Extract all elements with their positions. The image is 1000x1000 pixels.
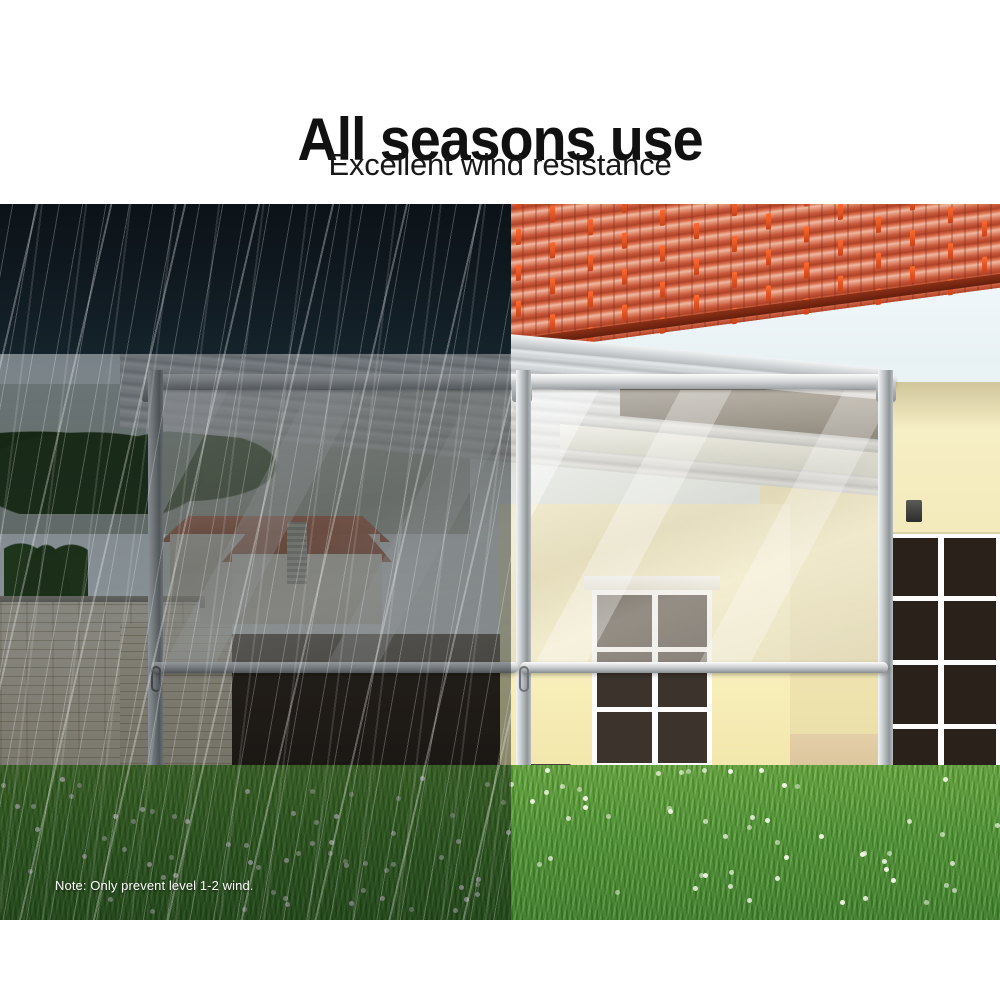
clover-flower: [615, 890, 620, 895]
door-mullion: [886, 660, 996, 665]
clover-flower: [784, 855, 789, 860]
roof-snow-guard: [588, 219, 593, 236]
clover-flower: [775, 876, 780, 881]
roof-snow-guard: [838, 276, 843, 293]
roof-snow-guard: [838, 204, 843, 220]
clover-flower: [884, 867, 889, 872]
product-photo: Note: Only prevent level 1-2 wind.: [0, 204, 1000, 920]
roof-snow-guard: [622, 232, 627, 249]
roof-snow-guard: [910, 230, 915, 247]
clover-flower: [765, 818, 770, 823]
roof-snow-guard: [766, 249, 771, 266]
roof-snow-guard: [516, 204, 521, 209]
clover-flower: [544, 790, 549, 795]
clover-flower: [940, 832, 945, 837]
clover-flower: [887, 851, 892, 856]
disclaimer-note: Note: Only prevent level 1-2 wind.: [55, 878, 254, 893]
french-door: [882, 534, 1000, 792]
clover-flower: [863, 896, 868, 901]
roof-snow-guard: [732, 272, 737, 289]
roof-snow-guard: [948, 243, 953, 260]
blind-fabric-right: [525, 390, 891, 672]
roof-snow-guard: [694, 259, 699, 276]
roof-snow-guard: [660, 245, 665, 262]
roof-snow-guard: [948, 207, 953, 224]
roof-snow-guard: [516, 229, 521, 246]
clover-flower: [530, 799, 535, 804]
roof-snow-guard: [660, 281, 665, 298]
roof-snow-guard: [516, 265, 521, 282]
clover-flower: [545, 768, 550, 773]
roof-snow-guard: [804, 226, 809, 243]
roof-snow-guard: [982, 256, 987, 273]
roof-snow-guard: [910, 266, 915, 283]
roof-snow-guard: [766, 213, 771, 230]
clover-flower: [548, 856, 553, 861]
clover-flower: [583, 805, 588, 810]
roof-snow-guard: [550, 242, 555, 259]
clover-flower: [728, 884, 733, 889]
clover-flower: [747, 898, 752, 903]
roof-snow-guard: [588, 255, 593, 272]
roof-snow-guard: [910, 204, 915, 211]
roof-snow-guard: [550, 314, 555, 331]
door-mullion: [597, 707, 707, 712]
clover-flower: [728, 769, 733, 774]
roof-snow-guard: [732, 204, 737, 216]
clover-flower: [943, 777, 948, 782]
rain-streaks-bright: [0, 204, 511, 920]
clover-flower: [702, 768, 707, 773]
roof-snow-guard: [550, 206, 555, 223]
clover-flower: [782, 783, 787, 788]
clover-flower: [537, 862, 542, 867]
product-feature-banner: All seasons use Excellent wind resistanc…: [0, 0, 1000, 1000]
roof-snow-guard: [876, 216, 881, 233]
clover-flower: [668, 809, 673, 814]
blind-tension-strap-right[interactable]: [519, 666, 529, 692]
clover-flower: [995, 823, 1000, 828]
roof-snow-guard: [588, 291, 593, 308]
blind-fabric-sheen: [527, 390, 889, 672]
roof-snow-guard: [694, 295, 699, 312]
clover-flower: [750, 815, 755, 820]
clover-flower: [775, 840, 780, 845]
clover-flower: [944, 883, 949, 888]
roof-snow-guard: [622, 268, 627, 285]
clover-flower: [560, 784, 565, 789]
clover-flower: [686, 769, 691, 774]
storm-overlay: [0, 204, 511, 920]
clover-flower: [759, 768, 764, 773]
clover-flower: [891, 878, 896, 883]
roof-snow-guard: [766, 285, 771, 302]
clover-flower: [583, 796, 588, 801]
clover-flower: [747, 825, 752, 830]
clover-flower: [795, 784, 800, 789]
clover-flower: [577, 787, 582, 792]
roof-snow-guard: [694, 223, 699, 240]
clover-flower: [729, 870, 734, 875]
roof-snow-guard: [804, 262, 809, 279]
clover-flower: [924, 900, 929, 905]
clover-flower: [819, 834, 824, 839]
clover-flower: [950, 861, 955, 866]
wall-lamp: [906, 500, 922, 522]
clover-flower: [656, 771, 661, 776]
clover-flower: [679, 770, 684, 775]
door-mullion: [886, 596, 996, 601]
roof-snow-guard: [982, 220, 987, 237]
clover-flower: [566, 816, 571, 821]
door-mullion: [886, 724, 996, 729]
roof-snow-guard: [516, 301, 521, 318]
clover-flower: [862, 851, 867, 856]
roof-snow-guard: [732, 236, 737, 253]
clover-flower: [840, 900, 845, 905]
roof-snow-guard: [838, 240, 843, 257]
blind-bottom-rail-right[interactable]: [520, 662, 888, 673]
roof-snow-guard: [804, 204, 809, 207]
clover-flower: [703, 819, 708, 824]
roof-snow-guard: [550, 278, 555, 295]
roof-snow-guard: [622, 304, 627, 321]
roof-snow-guard: [622, 204, 627, 213]
clover-flower: [723, 834, 728, 839]
clover-flower: [606, 814, 611, 819]
clover-flower: [952, 888, 957, 893]
clover-flower: [693, 886, 698, 891]
clover-flower: [882, 859, 887, 864]
roof-snow-guard: [876, 252, 881, 269]
roof-snow-guard: [660, 209, 665, 226]
page-subtitle: Excellent wind resistance: [0, 147, 1000, 183]
clover-flower: [907, 819, 912, 824]
